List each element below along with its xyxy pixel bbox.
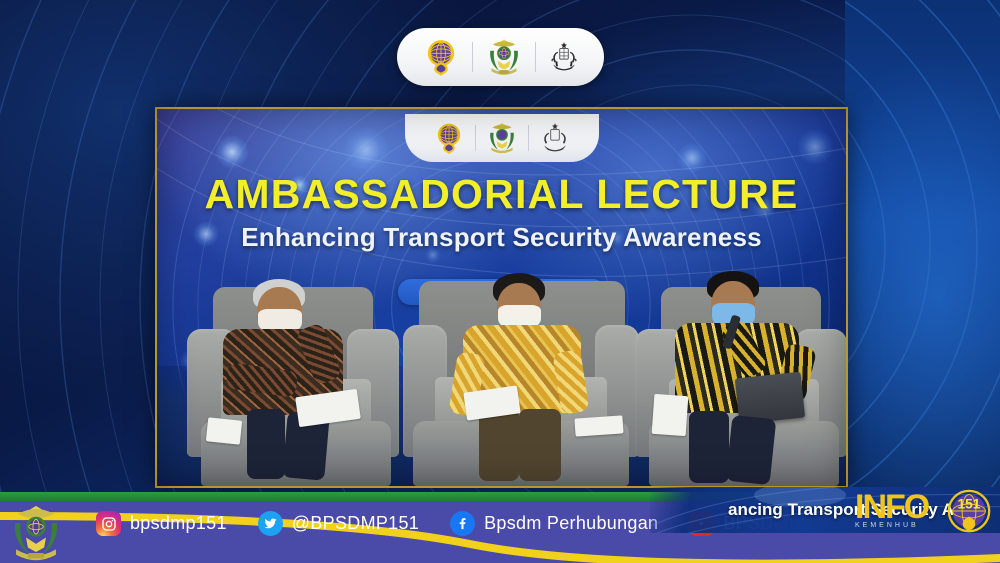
twitter-handle: @BPSDMP151	[292, 513, 419, 534]
bokeh-light	[677, 143, 707, 173]
info-brand-sub: KEMENHUB	[855, 522, 955, 529]
australian-coat-of-arms-logo	[537, 121, 573, 155]
panelist-center	[405, 271, 635, 486]
logo-divider	[475, 125, 476, 151]
logo-divider	[535, 42, 536, 72]
kemenhub-globe-logo	[431, 121, 467, 155]
facebook-handle: Bpsdm Perhubungan	[484, 513, 658, 534]
video-frame: AMBASSADORIAL LECTURE Enhancing Transpor…	[155, 107, 848, 488]
panelist-left	[187, 271, 407, 486]
kemenhub-globe-logo	[420, 37, 462, 77]
bokeh-light	[215, 135, 249, 169]
logo-divider	[528, 125, 529, 151]
broadcast-ticker-overlay: ancing Transport Security A INFO KEMENHU…	[650, 487, 1000, 533]
panelist-seat-right	[635, 271, 848, 486]
australian-coat-of-arms-logo	[546, 40, 582, 74]
panelist-seat-left	[187, 271, 407, 486]
document-papers	[652, 394, 689, 436]
badge-151: 151	[947, 489, 991, 533]
instagram-icon[interactable]	[96, 511, 121, 536]
badge-151-number: 151	[958, 496, 981, 511]
bpsdm-perhubungan-logo	[484, 121, 520, 155]
twitter-icon[interactable]	[258, 511, 283, 536]
panelist-seat-center	[405, 271, 635, 486]
event-title: AMBASSADORIAL LECTURE	[157, 171, 846, 218]
instagram-handle: bpsdmp151	[130, 513, 227, 534]
bokeh-light	[343, 127, 389, 173]
panelist-right	[635, 271, 848, 486]
facebook-icon[interactable]	[450, 511, 475, 536]
info-kemenhub-logo: INFO KEMENHUB	[855, 490, 955, 532]
bpsdm-perhubungan-logo	[483, 37, 525, 77]
logo-divider	[472, 42, 473, 72]
header-logo-pill	[397, 28, 604, 86]
event-subtitle: Enhancing Transport Security Awareness	[157, 222, 846, 253]
document-papers	[574, 415, 623, 436]
bokeh-light	[797, 129, 833, 165]
document-papers	[206, 417, 242, 444]
bpsdm-perhubungan-logo	[5, 504, 67, 562]
backdrop-logo-pill	[405, 114, 599, 162]
background-right-glow	[845, 0, 1000, 492]
broadcast-screenshot: AMBASSADORIAL LECTURE Enhancing Transpor…	[0, 0, 1000, 563]
info-brand-word: INFO	[855, 490, 955, 524]
